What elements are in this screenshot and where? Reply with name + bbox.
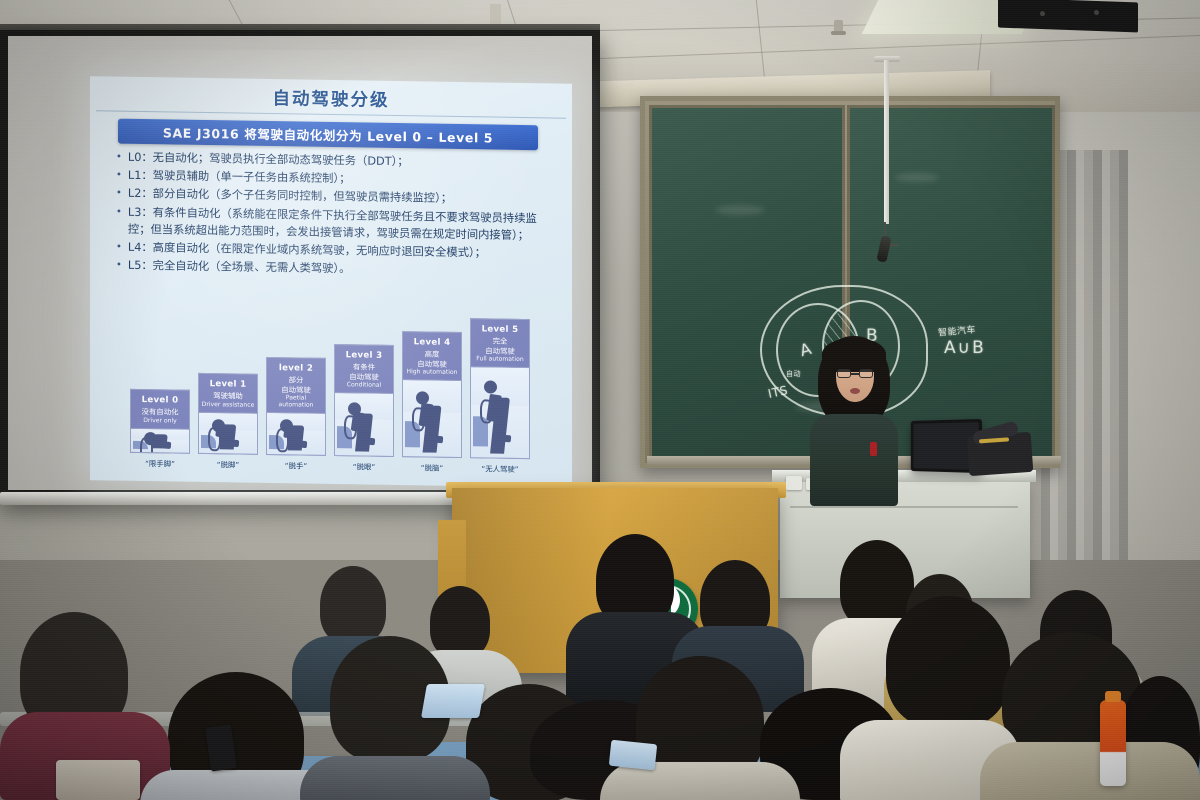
ceiling-projector-mount-icon	[998, 0, 1138, 32]
smartphone-icon	[609, 740, 657, 771]
automation-level-block: Level 4高度自动驾驶High automation“脱脑”	[402, 331, 462, 458]
automation-level-number: Level 5	[473, 324, 527, 335]
handbag	[56, 760, 140, 800]
automation-level-number: Level 3	[337, 350, 391, 361]
student-head	[886, 596, 1010, 728]
slide-banner-text: SAE J3016 将驾驶自动化划分为 Level 0 – Level 5	[163, 122, 493, 146]
automation-level-number: Level 0	[133, 395, 187, 406]
slide-bullet-list: • L0：无自动化；驾驶员执行全部动态驾驶任务（DDT）； • L1：驾驶员辅助…	[116, 149, 556, 282]
lecturer-fringe	[822, 338, 886, 372]
blackboard-note-union-expr: A∪B	[944, 338, 986, 358]
projected-slide: 自动驾驶分级 SAE J3016 将驾驶自动化划分为 Level 0 – Lev…	[90, 76, 572, 488]
automation-level-block: Level 5完全自动驾驶Full automation“无人驾驶”	[470, 318, 530, 459]
automation-level-chart: Level 0没有自动化Driver only“限手脚”Level 1驾驶辅助D…	[130, 313, 538, 477]
automation-level-caption: Level 0没有自动化Driver only	[131, 390, 189, 429]
automation-level-block: Level 1驾驶辅助Driver assistance“脱脚”	[198, 373, 258, 455]
automation-level-label-zh: 完全自动驾驶	[473, 337, 527, 356]
automation-level-number: Level 1	[201, 379, 255, 390]
automation-level-block: Level 3有条件自动驾驶Conditional“脱眼”	[334, 344, 394, 457]
automation-level-caption: Level 4高度自动驾驶High automation	[403, 332, 461, 380]
driver-pictogram-icon	[335, 392, 393, 456]
automation-level-footnote: “脱脚”	[199, 459, 257, 471]
venn-label-small: 自动	[786, 369, 801, 379]
bullet-marker: •	[116, 239, 122, 256]
drink-bottle	[1100, 700, 1126, 786]
automation-level-block: level 2部分自动驾驶Paetial automation“脱手”	[266, 357, 326, 456]
lecturer-torso	[810, 414, 898, 506]
bullet-text: L3：有条件自动化（系统能在限定条件下执行全部驾驶任务且不要求驾驶员持续监控；但…	[128, 203, 556, 244]
automation-level-label-zh: 高度自动驾驶	[405, 350, 459, 369]
desk-item-box	[786, 476, 802, 490]
automation-level-footnote: “脱眼”	[335, 461, 393, 473]
student-torso	[980, 742, 1200, 800]
driver-pictogram-icon	[471, 366, 529, 458]
automation-level-caption: level 2部分自动驾驶Paetial automation	[267, 358, 325, 413]
slide-banner: SAE J3016 将驾驶自动化划分为 Level 0 – Level 5	[118, 119, 538, 151]
lecture-hall-photo: A B 自动 ITS 智能汽车 A∪B 自动驾驶分级 SAE J3016 将驾驶…	[0, 0, 1200, 800]
tablet-screen-icon	[421, 684, 485, 718]
student-head	[320, 566, 386, 644]
fire-sprinkler-icon	[834, 20, 843, 34]
automation-level-label-en: Full automation	[473, 355, 527, 363]
automation-level-footnote: “脱手”	[267, 460, 325, 472]
automation-level-caption: Level 5完全自动驾驶Full automation	[471, 319, 529, 367]
driver-pictogram-icon	[403, 379, 461, 457]
automation-level-footnote: “脱脑”	[403, 462, 461, 474]
bullet-marker: •	[116, 149, 122, 166]
automation-level-label-zh: 有条件自动驾驶	[337, 363, 391, 382]
automation-level-label-en: High automation	[405, 368, 459, 376]
automation-level-number: Level 4	[405, 337, 459, 348]
automation-level-block: Level 0没有自动化Driver only“限手脚”	[130, 389, 190, 454]
automation-level-number: level 2	[269, 363, 323, 374]
lecturer-badge	[870, 442, 877, 456]
lecturer	[806, 336, 902, 504]
automation-level-caption: Level 1驾驶辅助Driver assistance	[199, 374, 257, 413]
automation-level-label-en: Driver only	[133, 416, 187, 424]
slide-title: 自动驾驶分级	[90, 82, 572, 115]
bullet-marker: •	[116, 185, 122, 202]
automation-level-label-zh: 部分自动驾驶	[269, 376, 323, 395]
student-head	[430, 586, 490, 658]
driver-pictogram-icon	[131, 428, 189, 453]
bottle-cap-icon	[1105, 691, 1121, 702]
driver-pictogram-icon	[267, 412, 325, 455]
eyeglasses-icon	[837, 369, 873, 378]
driver-pictogram-icon	[199, 412, 257, 454]
automation-level-footnote: “无人驾驶”	[471, 463, 529, 475]
bullet-marker: •	[116, 167, 122, 184]
teacher-desk-drawer-line	[790, 506, 1018, 508]
automation-level-caption: Level 3有条件自动驾驶Conditional	[335, 345, 393, 393]
student-torso	[300, 756, 490, 800]
bullet-marker: •	[116, 257, 122, 274]
list-item: • L3：有条件自动化（系统能在限定条件下执行全部驾驶任务且不要求驾驶员持续监控…	[116, 203, 556, 244]
av-equipment-icon	[967, 432, 1034, 476]
automation-level-label-en: Driver assistance	[201, 400, 255, 408]
bullet-marker: •	[116, 203, 122, 237]
automation-level-label-en: Conditional	[337, 381, 391, 389]
automation-level-footnote: “限手脚”	[131, 458, 189, 470]
lecturer-mouth	[850, 388, 860, 394]
automation-level-label-en: Paetial automation	[269, 394, 323, 410]
